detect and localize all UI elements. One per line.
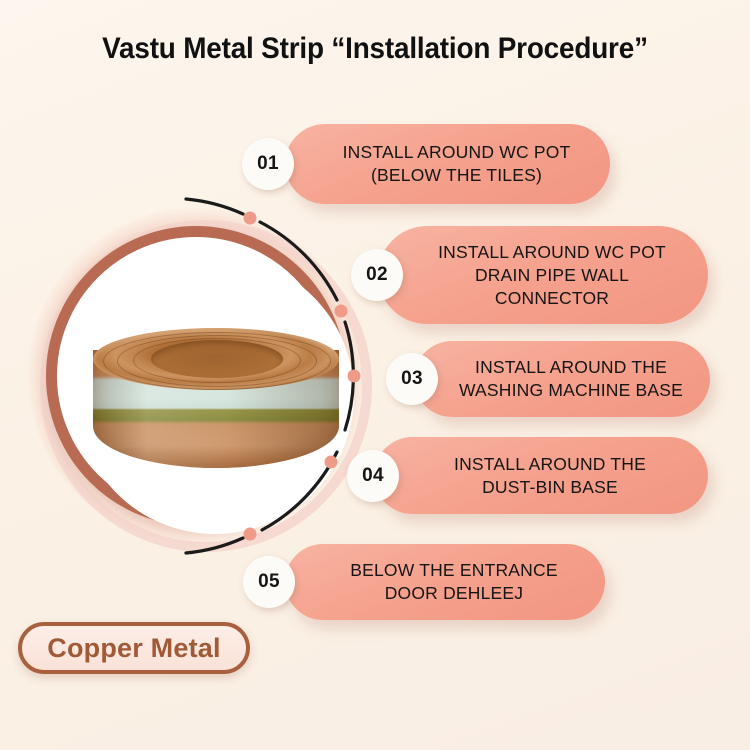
step-badge-03[interactable]: 03 — [386, 353, 438, 405]
step-number-03: 03 — [401, 368, 423, 390]
step-number-04: 04 — [362, 465, 384, 487]
step-number-05: 05 — [258, 571, 280, 593]
step-item-02[interactable]: INSTALL AROUND WC POT DRAIN PIPE WALL CO… — [378, 226, 708, 324]
step-item-04[interactable]: INSTALL AROUND THE DUST-BIN BASE 04 — [374, 437, 708, 514]
step-badge-02[interactable]: 02 — [351, 249, 403, 301]
step-pill-02[interactable]: INSTALL AROUND WC POT DRAIN PIPE WALL CO… — [378, 226, 708, 324]
step-item-05[interactable]: BELOW THE ENTRANCE DOOR DEHLEEJ 05 — [285, 544, 605, 620]
step-item-01[interactable]: INSTALL AROUND WC POT (BELOW THE TILES) … — [285, 124, 610, 204]
step-number-01: 01 — [257, 153, 279, 175]
step-label-03: INSTALL AROUND THE WASHING MACHINE BASE — [459, 356, 683, 402]
copper-metal-tag: Copper Metal — [18, 622, 250, 674]
infographic-poster: Vastu Metal Strip “Installation Procedur… — [0, 0, 750, 750]
copper-metal-tag-label: Copper Metal — [47, 633, 220, 664]
step-number-02: 02 — [366, 264, 388, 286]
step-label-04: INSTALL AROUND THE DUST-BIN BASE — [454, 453, 646, 499]
step-badge-05[interactable]: 05 — [243, 556, 295, 608]
step-label-05: BELOW THE ENTRANCE DOOR DEHLEEJ — [350, 559, 557, 605]
step-pill-03[interactable]: INSTALL AROUND THE WASHING MACHINE BASE — [414, 341, 710, 417]
step-label-02: INSTALL AROUND WC POT DRAIN PIPE WALL CO… — [438, 241, 666, 310]
step-pill-04[interactable]: INSTALL AROUND THE DUST-BIN BASE — [374, 437, 708, 514]
step-pill-05[interactable]: BELOW THE ENTRANCE DOOR DEHLEEJ — [285, 544, 605, 620]
step-badge-01[interactable]: 01 — [242, 138, 294, 190]
step-label-01: INSTALL AROUND WC POT (BELOW THE TILES) — [343, 141, 571, 187]
step-pill-01[interactable]: INSTALL AROUND WC POT (BELOW THE TILES) — [285, 124, 610, 204]
step-badge-04[interactable]: 04 — [347, 450, 399, 502]
step-item-03[interactable]: INSTALL AROUND THE WASHING MACHINE BASE … — [414, 341, 710, 417]
